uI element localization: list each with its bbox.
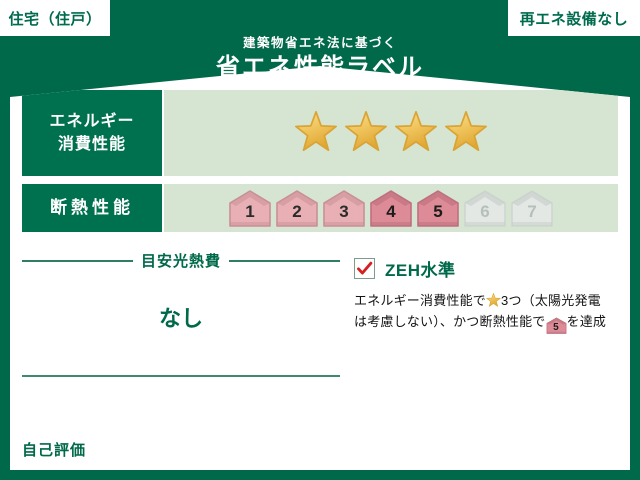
insulation-grade-segment: 2 [275,189,319,227]
insulation-grade-scale: 1234567 [228,189,554,227]
zeh-section: ZEH水準 エネルギー消費性能で3つ（太陽光発電 は考慮しない）、かつ断熱性能で… [340,240,618,377]
insulation-performance-row: 断熱性能 1234567 [22,184,618,232]
insulation-performance-value: 1234567 [164,184,618,232]
star-rating [294,111,488,155]
utility-cost-title: 目安光熱費 [141,250,221,271]
evaluation-date: 評価日 2025年10月1日 [487,432,626,451]
star-icon [444,111,488,155]
insulation-grade-number: 7 [527,203,536,227]
rule-right [229,260,340,262]
zeh-description: エネルギー消費性能で3つ（太陽光発電 は考慮しない）、かつ断熱性能で5を達成 [354,290,618,334]
building-type-tag: 住宅（住戸） [0,0,110,36]
evaluation-id: 09300456-f828-4c4f [487,454,626,465]
utility-cost-bottom-rule [22,375,340,377]
property-address: 西脇市郷瀬町第2(3棟)1号棟25924800100 [102,442,310,458]
footer-left-group: 自己評価 西脇市郷瀬町第2(3棟)1号棟25924800100 [14,436,310,463]
zeh-desc-part3: を達成 [567,314,607,329]
label-panel-content: エネルギー 消費性能 断熱性能 1234567 目安 [22,90,618,458]
zeh-desc-part2: は考慮しない）、かつ断熱性能で [354,314,546,329]
label-footer: 自己評価 西脇市郷瀬町第2(3棟)1号棟25924800100 評価日 2025… [0,424,640,480]
insulation-grade-segment: 3 [322,189,366,227]
inline-star-icon [486,293,501,308]
insulation-grade-segment: 6 [463,189,507,227]
inline-grade-chip: 5 [546,317,567,334]
zeh-desc-star-count: 3つ（太陽光発電 [501,293,601,308]
utility-cost-header: 目安光熱費 [22,250,340,271]
zeh-header: ZEH水準 [354,256,618,281]
label-subtitle: 建築物省エネ法に基づく [0,36,640,51]
renewable-energy-tag: 再エネ設備なし [508,0,640,36]
star-icon [344,111,388,155]
insulation-grade-number: 1 [245,203,254,227]
utility-cost-value: なし [22,301,340,333]
energy-performance-label-key: エネルギー 消費性能 [22,90,162,176]
insulation-grade-number: 4 [386,203,395,227]
energy-performance-row: エネルギー 消費性能 [22,90,618,176]
insulation-grade-segment: 4 [369,189,413,227]
label-lower-section: 目安光熱費 なし ZEH水準 [22,240,618,377]
insulation-grade-number: 2 [292,203,301,227]
insulation-grade-segment: 7 [510,189,554,227]
insulation-grade-segment: 1 [228,189,272,227]
star-icon [394,111,438,155]
energy-performance-label: 住宅（住戸） 再エネ設備なし 建築物省エネ法に基づく 省エネ性能ラベル エネルギ… [0,0,640,480]
inline-grade-number: 5 [546,317,567,339]
energy-performance-value [164,90,618,176]
insulation-performance-label-key: 断熱性能 [22,184,162,232]
insulation-grade-number: 3 [339,203,348,227]
energy-key-line2: 消費性能 [58,133,126,156]
footer-right-group: 評価日 2025年10月1日 09300456-f828-4c4f [487,432,626,465]
zeh-title: ZEH水準 [385,256,456,281]
utility-cost-section: 目安光熱費 なし [22,240,340,377]
insulation-grade-number: 5 [433,203,442,227]
label-panel: エネルギー 消費性能 断熱性能 1234567 目安 [10,66,630,470]
zeh-checkbox[interactable] [354,258,375,279]
rule-left [22,260,133,262]
check-icon [356,260,373,277]
zeh-desc-part1: エネルギー消費性能で [354,293,486,308]
self-evaluation-badge: 自己評価 [14,436,94,463]
insulation-grade-segment: 5 [416,189,460,227]
energy-key-line1: エネルギー [49,110,134,133]
star-icon [294,111,338,155]
insulation-grade-number: 6 [480,203,489,227]
